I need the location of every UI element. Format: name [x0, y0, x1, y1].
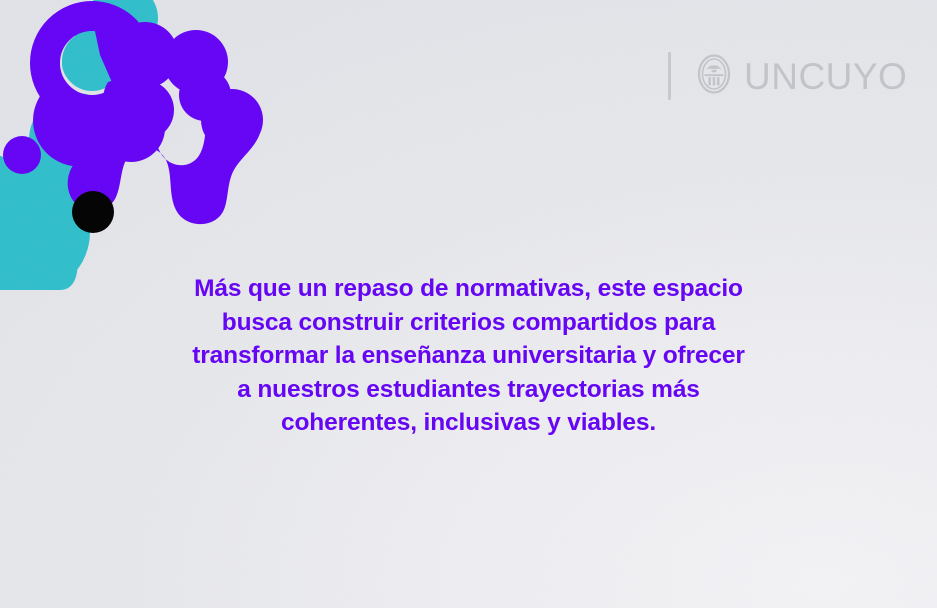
headline-line: coherentes, inclusivas y viables.	[120, 406, 817, 440]
slide-canvas: UNCUYO Más que un repaso de normativas, …	[0, 0, 937, 608]
headline-line: Más que un repaso de normativas, este es…	[120, 272, 817, 306]
purple-terminal-circle	[201, 89, 263, 151]
black-circle	[72, 191, 114, 233]
headline-line: transformar la enseñanza universitaria y…	[120, 339, 817, 373]
headline-line: a nuestros estudiantes trayectorias más	[120, 373, 817, 407]
headline-line: busca construir criterios compartidos pa…	[120, 306, 817, 340]
decorative-blob-cluster	[0, 0, 290, 290]
headline-block: Más que un repaso de normativas, este es…	[0, 272, 937, 440]
logo-divider	[668, 52, 671, 100]
uncuyo-wordmark: UNCUYO	[744, 58, 907, 95]
purple-small-circle	[3, 136, 41, 174]
uncuyo-logo-lockup: UNCUYO	[668, 50, 907, 102]
uncuyo-condor-emblem-icon	[693, 53, 735, 100]
logo-mark-wrap: UNCUYO	[693, 53, 907, 100]
